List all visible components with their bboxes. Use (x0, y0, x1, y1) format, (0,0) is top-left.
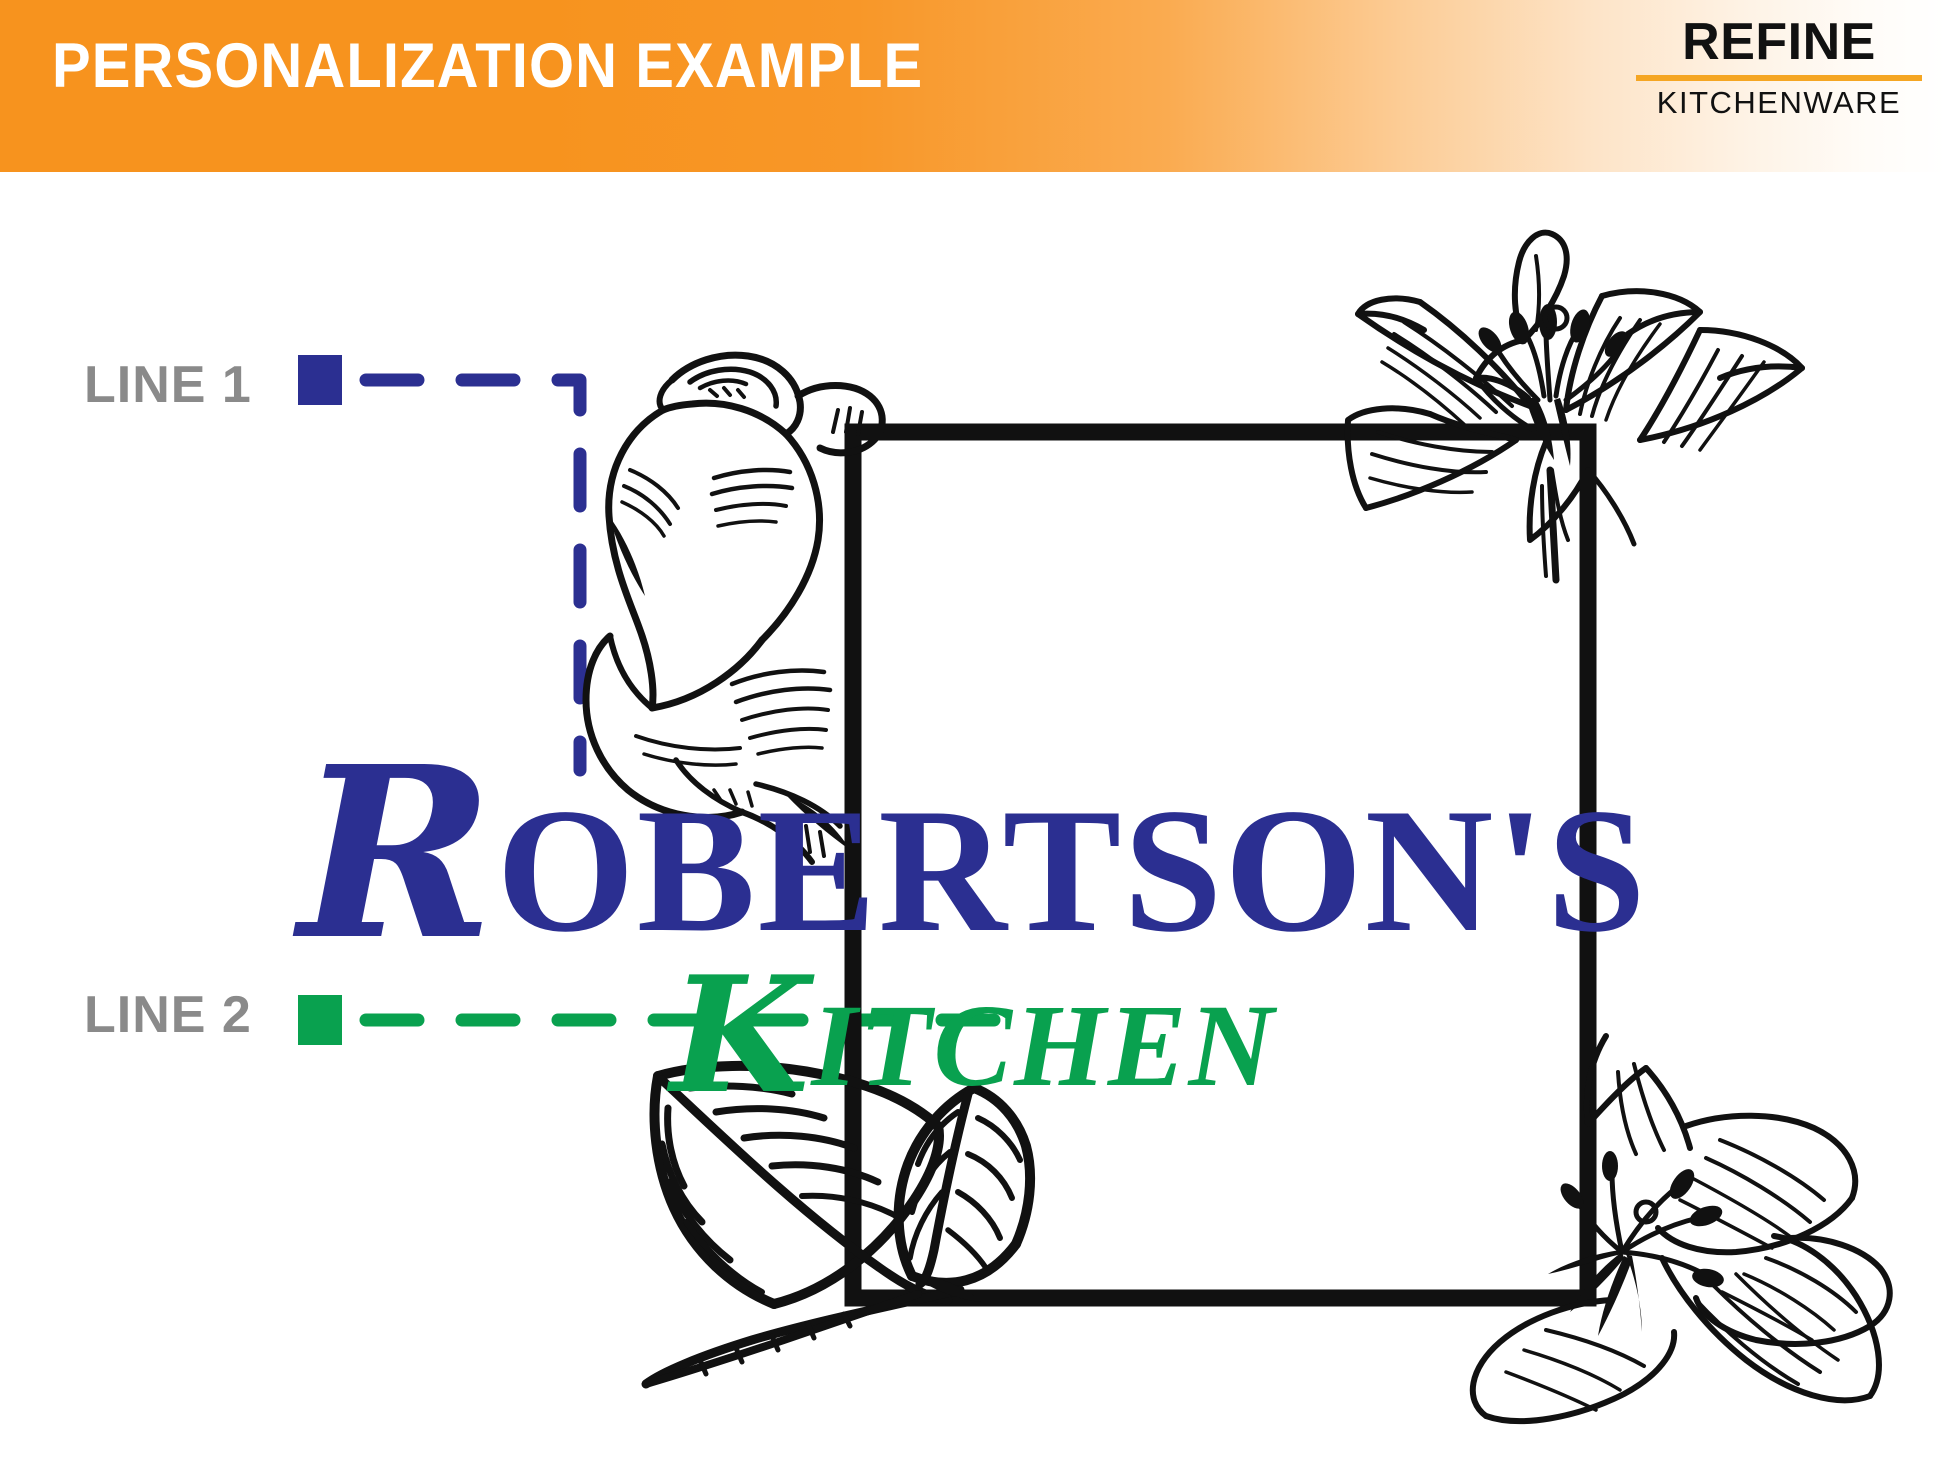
preview-line-2: KITCHEN (0, 955, 1946, 1115)
preview-line-1-rest: OBERTSON'S (496, 771, 1647, 969)
preview-line-1: ROBERTSON'S (0, 735, 1946, 971)
monogram-artwork (0, 0, 1946, 1460)
preview-line-1-dropcap: R (298, 714, 496, 992)
lily-illustration (1348, 233, 1802, 580)
preview-line-2-rest: ITCHEN (811, 980, 1275, 1111)
preview-line-2-dropcap: K (670, 941, 811, 1129)
